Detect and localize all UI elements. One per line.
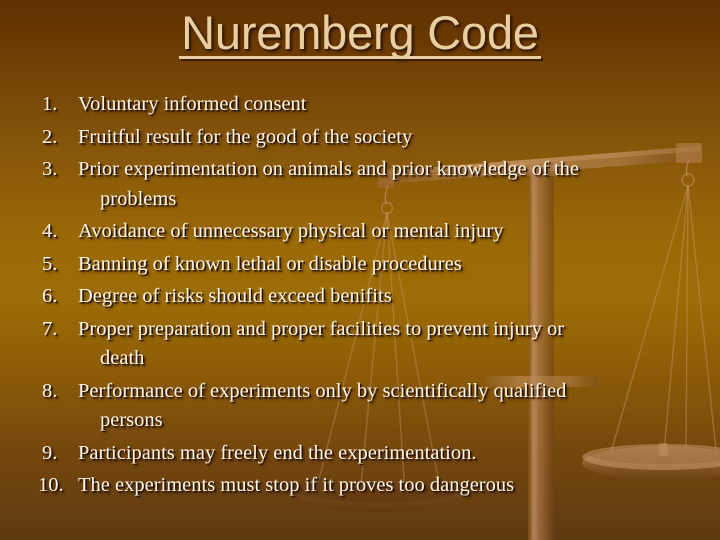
list-item: 8. Performance of experiments only by sc… — [38, 377, 692, 436]
list-item-number: 4. — [38, 217, 78, 247]
list-item-number: 5. — [38, 250, 78, 280]
list-item-text: Degree of risks should exceed benifits — [78, 285, 392, 307]
list-item-text: Fruitful result for the good of the soci… — [78, 126, 412, 148]
list-item-number: 2. — [38, 123, 78, 153]
list-item-number: 7. — [38, 315, 78, 345]
list-item: 10. The experiments must stop if it prov… — [38, 471, 692, 501]
list-item-continuation: problems — [78, 185, 692, 215]
list-item-number: 8. — [38, 377, 78, 407]
list-item: 1. Voluntary informed consent — [38, 90, 692, 120]
list-item-text: Prior experimentation on animals and pri… — [78, 158, 579, 180]
list-item-continuation: death — [78, 344, 692, 374]
list-item-text: The experiments must stop if it proves t… — [78, 474, 514, 496]
list-item-text: Avoidance of unnecessary physical or men… — [78, 220, 503, 242]
list-item-number: 1. — [38, 90, 78, 120]
list-item: 2. Fruitful result for the good of the s… — [38, 123, 692, 153]
list-item: 4. Avoidance of unnecessary physical or … — [38, 217, 692, 247]
list-item-number: 9. — [38, 439, 78, 469]
list-item-number: 3. — [38, 155, 78, 185]
code-principles-list: 1. Voluntary informed consent 2. Fruitfu… — [38, 90, 692, 504]
page-title: Nuremberg Code — [175, 8, 545, 60]
list-item: 3. Prior experimentation on animals and … — [38, 155, 692, 214]
list-item: 6. Degree of risks should exceed benifit… — [38, 282, 692, 312]
list-item-continuation: persons — [78, 406, 692, 436]
list-item-text: Participants may freely end the experime… — [78, 442, 476, 464]
list-item-text: Banning of known lethal or disable proce… — [78, 253, 462, 275]
list-item: 9. Participants may freely end the exper… — [38, 439, 692, 469]
list-item-text: Proper preparation and proper facilities… — [78, 318, 564, 340]
list-item-number: 10. — [38, 471, 78, 501]
title-container: Nuremberg Code — [0, 8, 720, 60]
list-item-text: Performance of experiments only by scien… — [78, 380, 566, 402]
list-item: 7. Proper preparation and proper facilit… — [38, 315, 692, 374]
list-item: 5. Banning of known lethal or disable pr… — [38, 250, 692, 280]
list-item-text: Voluntary informed consent — [78, 93, 307, 115]
list-item-number: 6. — [38, 282, 78, 312]
presentation-slide: Nuremberg Code 1. Voluntary informed con… — [0, 0, 720, 540]
